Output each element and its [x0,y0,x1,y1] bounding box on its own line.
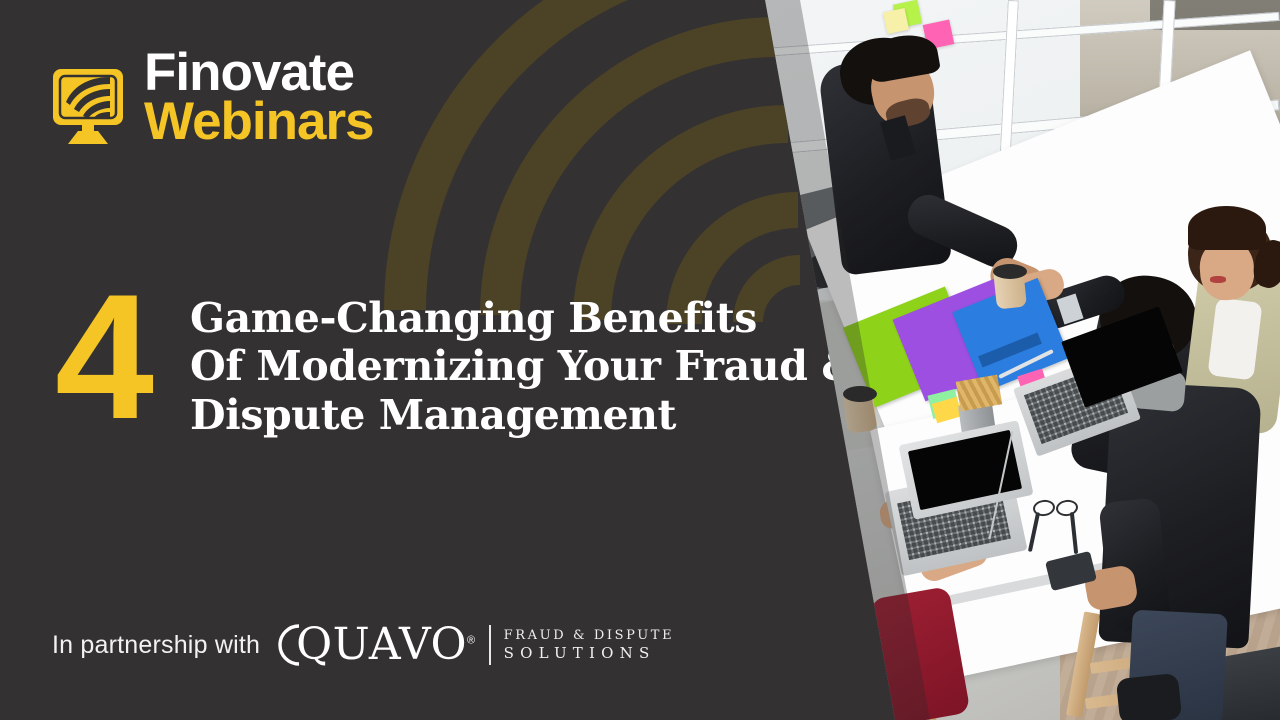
partnership-block: In partnership with QUAVO® FRAUD & DISPU… [52,622,674,668]
headline-line-1: Game-Changing Benefits [190,294,858,342]
logo-line-finovate: Finovate [144,48,374,97]
quavo-tagline-line-1: FRAUD & DISPUTE [504,627,675,644]
person-lips [1210,276,1226,283]
registered-trademark-icon: ® [467,634,476,646]
logo-line-webinars: Webinars [144,97,374,146]
coffee-cup-lid [843,386,877,402]
partnership-label: In partnership with [52,631,260,660]
headline-text: Game-Changing Benefits Of Modernizing Yo… [190,288,858,439]
coffee-cup-lid [993,264,1027,279]
monitor-wifi-icon [52,68,130,148]
quavo-text: QUAVO [296,619,467,670]
briefcase [1116,673,1182,720]
headline-line-3: Dispute Management [190,391,858,439]
headline-line-2: Of Modernizing Your Fraud & [190,342,858,390]
headline-block: 4 Game-Changing Benefits Of Modernizing … [55,288,858,439]
quavo-divider [489,625,491,665]
headline-number: 4 [55,288,190,427]
finovate-webinars-logo: Finovate Webinars [52,48,374,148]
person-blouse [1207,297,1262,380]
sticky-note [883,8,909,34]
quavo-logo: QUAVO® FRAUD & DISPUTE SOLUTIONS [276,622,674,668]
quavo-tagline-line-2: SOLUTIONS [504,644,675,664]
webinar-title-slide: Finovate Webinars 4 Game-Changing Benefi… [0,0,1280,720]
quavo-wordmark-group: QUAVO® [276,622,476,668]
quavo-tagline: FRAUD & DISPUTE SOLUTIONS [504,627,675,664]
logo-wordmark: Finovate Webinars [144,48,374,147]
quavo-wordmark: QUAVO® [296,623,476,667]
person-hair-top [1188,206,1266,250]
